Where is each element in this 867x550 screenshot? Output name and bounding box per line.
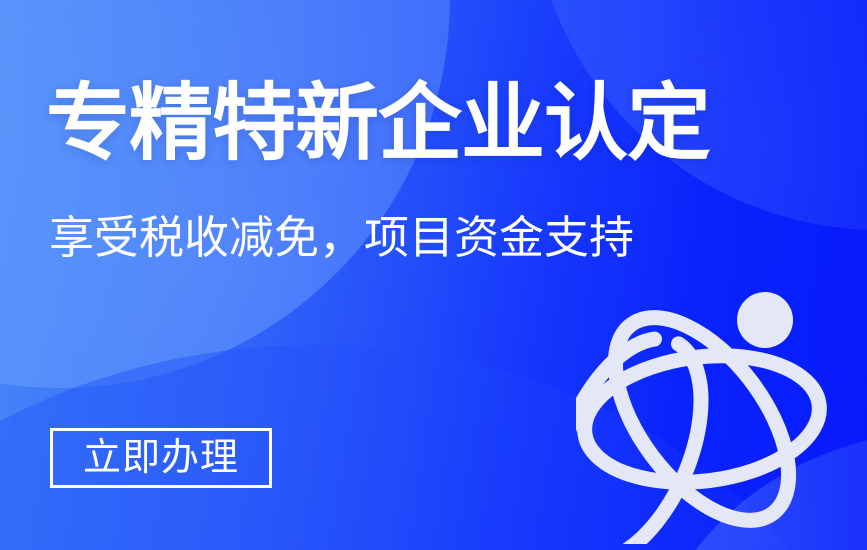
atom-icon: [576, 282, 846, 544]
banner-content: 专精特新企业认定 享受税收减免，项目资金支持 立即办理: [0, 0, 867, 550]
banner-subtitle: 享受税收减免，项目资金支持: [49, 215, 634, 260]
promo-banner: 专精特新企业认定 享受税收减免，项目资金支持 立即办理: [0, 0, 867, 550]
atom-electron: [737, 292, 793, 348]
apply-now-button[interactable]: 立即办理: [50, 428, 272, 488]
page-title: 专精特新企业认定: [46, 81, 710, 165]
